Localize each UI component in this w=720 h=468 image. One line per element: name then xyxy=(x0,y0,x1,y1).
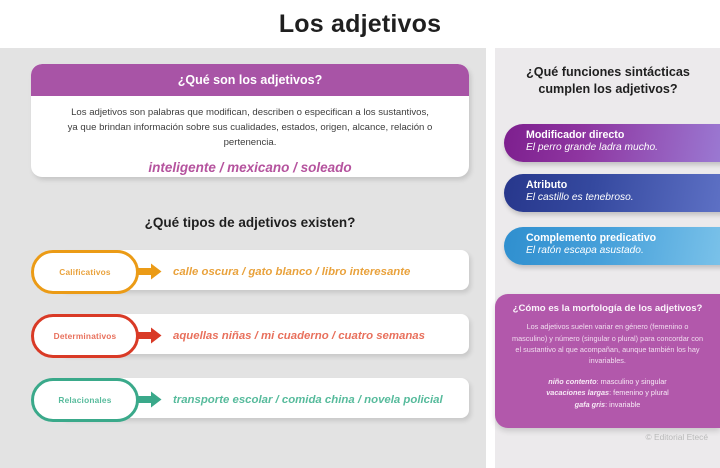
morphology-card: ¿Cómo es la morfología de los adjetivos?… xyxy=(495,294,720,428)
type-pill-determinativos[interactable]: Determinativos xyxy=(31,314,139,358)
morphology-example-desc: : invariable xyxy=(605,400,640,409)
function-card-name: Complemento predicativo xyxy=(526,232,720,245)
type-examples: transporte escolar / comida china / nove… xyxy=(173,378,443,422)
page-title: Los adjetivos xyxy=(279,10,441,39)
morphology-example-desc: : femenino y plural xyxy=(609,388,669,397)
morphology-example-item: niño contento: masculino y singular xyxy=(509,376,706,388)
function-card-example: El ratón escapa asustado. xyxy=(526,245,720,258)
morphology-example-desc: : masculino y singular xyxy=(597,377,667,386)
column-divider xyxy=(486,48,495,468)
definition-header: ¿Qué son los adjetivos? xyxy=(31,64,469,96)
infographic-page: Los adjetivos ¿Qué son los adjetivos? Lo… xyxy=(0,0,720,468)
function-card-example: El castillo es tenebroso. xyxy=(526,192,720,205)
function-card-name: Atributo xyxy=(526,179,720,192)
definition-heading-text: ¿Qué son los adjetivos? xyxy=(178,73,322,87)
definition-card: ¿Qué son los adjetivos? Los adjetivos so… xyxy=(31,64,469,177)
type-pill-label: Determinativos xyxy=(54,331,117,341)
type-pill-label: Calificativos xyxy=(59,267,110,277)
morphology-heading: ¿Cómo es la morfología de los adjetivos? xyxy=(509,303,706,315)
morphology-example-term: niño contento xyxy=(548,377,596,386)
morphology-paragraph: Los adjetivos suelen variar en género (f… xyxy=(509,321,706,366)
definition-body: Los adjetivos son palabras que modifican… xyxy=(31,96,469,175)
type-row-relacionales: transporte escolar / comida china / nove… xyxy=(31,378,469,422)
morphology-example-item: gafa gris: invariable xyxy=(509,399,706,411)
function-card-example: El perro grande ladra mucho. xyxy=(526,142,720,155)
title-bar: Los adjetivos xyxy=(0,0,720,48)
morphology-example-term: vacaciones largas xyxy=(546,388,609,397)
types-heading: ¿Qué tipos de adjetivos existen? xyxy=(31,215,469,230)
type-row-calificativos: calle oscura / gato blanco / libro inter… xyxy=(31,250,469,294)
type-row-determinativos: aquellas niñas / mi cuaderno / cuatro se… xyxy=(31,314,469,358)
morphology-example-item: vacaciones largas: femenino y plural xyxy=(509,387,706,399)
function-card-atributo[interactable]: Atributo El castillo es tenebroso. xyxy=(504,174,720,212)
definition-paragraph: Los adjetivos son palabras que modifican… xyxy=(65,106,435,151)
type-examples: calle oscura / gato blanco / libro inter… xyxy=(173,250,410,294)
type-examples: aquellas niñas / mi cuaderno / cuatro se… xyxy=(173,314,425,358)
function-card-modificador-directo[interactable]: Modificador directo El perro grande ladr… xyxy=(504,124,720,162)
definition-examples: inteligente / mexicano / soleado xyxy=(65,160,435,175)
type-pill-label: Relacionales xyxy=(58,395,111,405)
morphology-example-term: gafa gris xyxy=(575,400,605,409)
type-pill-relacionales[interactable]: Relacionales xyxy=(31,378,139,422)
function-card-complemento-predicativo[interactable]: Complemento predicativo El ratón escapa … xyxy=(504,227,720,265)
function-card-name: Modificador directo xyxy=(526,129,720,142)
morphology-examples: niño contento: masculino y singular vaca… xyxy=(509,376,706,411)
credit-text: © Editorial Etecé xyxy=(578,432,708,442)
functions-heading: ¿Qué funciones sintácticas cumplen los a… xyxy=(501,64,715,98)
type-pill-calificativos[interactable]: Calificativos xyxy=(31,250,139,294)
